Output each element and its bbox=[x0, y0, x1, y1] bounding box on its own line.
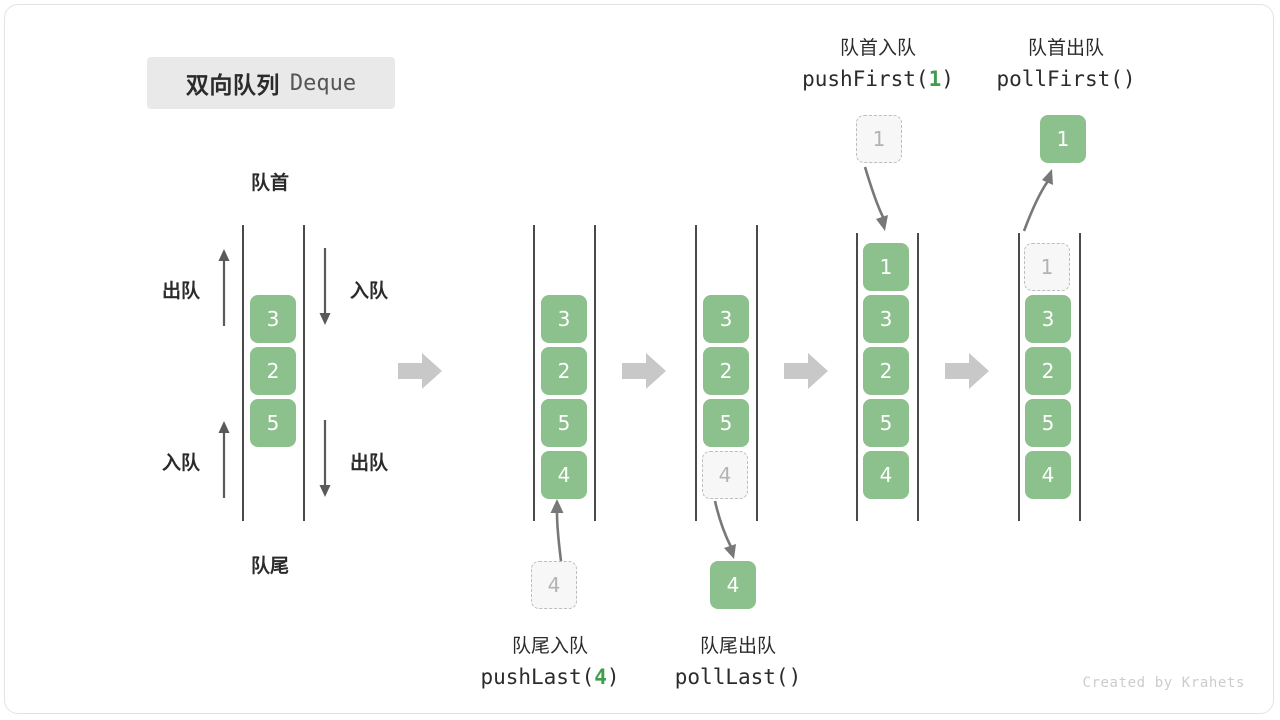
stage-5-item: 4 bbox=[1025, 451, 1071, 499]
push-last-label-code: pushLast(4) bbox=[457, 665, 643, 689]
poll-last-label-code: pollLast() bbox=[645, 665, 831, 689]
push-first-label-cn: 队首入队 bbox=[795, 33, 961, 60]
stage-4-rail-left bbox=[856, 233, 858, 521]
stage-3-item-ghost: 4 bbox=[702, 451, 748, 499]
stage-2-item: 3 bbox=[541, 295, 587, 343]
stage-3-item: 5 bbox=[703, 399, 749, 447]
dequeue-label-head: 出队 bbox=[153, 276, 209, 303]
enqueue-label-tail: 入队 bbox=[153, 448, 209, 475]
stage-2-item: 4 bbox=[541, 451, 587, 499]
stage-1-rail-right bbox=[303, 225, 305, 521]
stage-1-item: 5 bbox=[250, 399, 296, 447]
flow-arrow-1-icon bbox=[398, 353, 442, 389]
stage-5-item: 5 bbox=[1025, 399, 1071, 447]
arrow-enqueue-head bbox=[316, 248, 334, 326]
stage-4-item: 1 bbox=[863, 243, 909, 291]
enqueue-label-head: 入队 bbox=[341, 276, 397, 303]
stage-2-rail-left bbox=[533, 225, 535, 521]
stage-1-rail-left bbox=[242, 225, 244, 521]
tail-label: 队尾 bbox=[220, 551, 320, 578]
title-badge: 双向队列 Deque bbox=[147, 57, 395, 109]
stage-4-item: 5 bbox=[863, 399, 909, 447]
stage-5-item: 3 bbox=[1025, 295, 1071, 343]
poll-last-label-cn: 队尾出队 bbox=[655, 631, 821, 658]
head-label: 队首 bbox=[220, 168, 320, 195]
push-first-label-code: pushFirst(1) bbox=[785, 67, 971, 91]
stage-4-item: 2 bbox=[863, 347, 909, 395]
stage-5-rail-right bbox=[1079, 233, 1081, 521]
stage-3-item: 3 bbox=[703, 295, 749, 343]
arrow-enqueue-tail bbox=[215, 420, 233, 498]
stage-3-removed-box: 4 bbox=[710, 561, 756, 609]
title-chinese: 双向队列 bbox=[186, 66, 280, 100]
stage-2-item: 2 bbox=[541, 347, 587, 395]
stage-4-item: 4 bbox=[863, 451, 909, 499]
flow-arrow-4-icon bbox=[945, 353, 989, 389]
stage-3-rail-left bbox=[695, 225, 697, 521]
arrow-dequeue-head bbox=[215, 248, 233, 326]
stage-1-item: 3 bbox=[250, 295, 296, 343]
stage-5-poll-first-arrow bbox=[1018, 167, 1058, 233]
stage-4-push-first-arrow bbox=[853, 167, 889, 233]
stage-5-item: 2 bbox=[1025, 347, 1071, 395]
stage-1-item: 2 bbox=[250, 347, 296, 395]
stage-2-rail-right bbox=[594, 225, 596, 521]
stage-4-incoming-ghost-box: 1 bbox=[856, 115, 902, 163]
push-last-label-cn: 队尾入队 bbox=[467, 631, 633, 658]
stage-2-item: 5 bbox=[541, 399, 587, 447]
flow-arrow-2-icon bbox=[622, 353, 666, 389]
stage-3-poll-last-arrow bbox=[711, 501, 743, 561]
stage-5-removed-box: 1 bbox=[1040, 115, 1086, 163]
arrow-dequeue-tail bbox=[316, 420, 334, 498]
stage-3-rail-right bbox=[756, 225, 758, 521]
stage-3-item: 2 bbox=[703, 347, 749, 395]
diagram-card: 双向队列 Deque 队首 队尾 出队 入队 入队 出队 3 2 5 3 2 5… bbox=[4, 4, 1274, 714]
stage-5-rail-left bbox=[1018, 233, 1020, 521]
stage-2-incoming-ghost-box: 4 bbox=[531, 561, 577, 609]
stage-2-push-last-arrow bbox=[545, 497, 575, 563]
stage-4-rail-right bbox=[917, 233, 919, 521]
watermark: Created by Krahets bbox=[1082, 675, 1245, 691]
poll-first-label-code: pollFirst() bbox=[973, 67, 1159, 91]
stage-5-item-ghost: 1 bbox=[1024, 243, 1070, 291]
flow-arrow-3-icon bbox=[784, 353, 828, 389]
poll-first-label-cn: 队首出队 bbox=[983, 33, 1149, 60]
dequeue-label-tail: 出队 bbox=[341, 448, 397, 475]
title-english: Deque bbox=[290, 71, 356, 96]
stage-4-item: 3 bbox=[863, 295, 909, 343]
